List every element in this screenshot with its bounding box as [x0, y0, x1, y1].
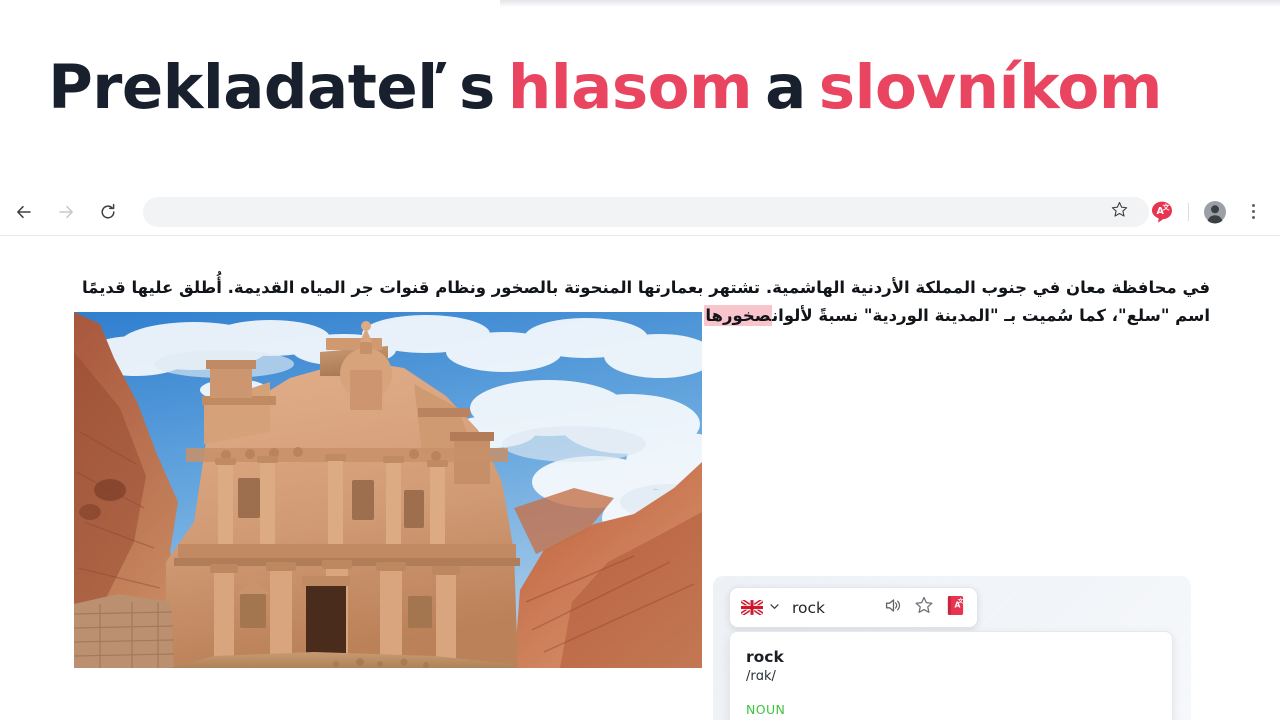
hero-word-s: s — [459, 52, 495, 123]
page-title: Prekladateľshlasomaslovníkom — [48, 56, 1162, 120]
hero-word-hlasom: hlasom — [508, 52, 752, 123]
page-hero: Prekladateľshlasomaslovníkom — [0, 56, 1210, 120]
part-of-speech-label: NOUN — [746, 702, 1156, 718]
toolbar-actions: A 文 — [1149, 188, 1280, 236]
hero-word-slovnikom: slovníkom — [819, 52, 1162, 123]
svg-text:文: 文 — [957, 597, 963, 605]
bookmark-button[interactable] — [1105, 198, 1133, 226]
star-icon — [914, 595, 934, 620]
petra-monastery-photo — [74, 312, 702, 668]
back-button[interactable] — [6, 194, 42, 230]
translator-extension-icon: A 文 — [1150, 200, 1174, 224]
favorite-button[interactable] — [913, 597, 935, 619]
translator-extension-button[interactable]: A 文 — [1146, 196, 1178, 228]
page-content: في محافظة معان في جنوب المملكة الأردنية … — [0, 236, 1280, 720]
chevron-down-icon[interactable] — [769, 599, 780, 617]
speaker-icon — [884, 596, 903, 620]
top-edge-strip — [500, 0, 1280, 7]
hero-word-a: a — [765, 52, 806, 123]
address-bar[interactable] — [143, 197, 1149, 227]
hero-word-prekladatel: Prekladateľ — [48, 52, 446, 123]
reload-icon — [98, 202, 118, 222]
toolbar-divider — [1188, 203, 1189, 221]
profile-avatar-icon — [1203, 200, 1227, 224]
definition-card: rock /rɑk/ NOUN 1.a lump or mass of hard… — [729, 631, 1173, 720]
star-icon — [1110, 200, 1129, 224]
definition-phonetic: /rɑk/ — [746, 669, 1156, 686]
reload-button[interactable] — [90, 194, 126, 230]
browser-toolbar: A 文 — [0, 188, 1280, 236]
three-dot-menu-icon — [1252, 202, 1255, 222]
screen-root: Prekladateľshlasomaslovníkom — [0, 0, 1280, 720]
highlighted-word[interactable]: صخورها — [704, 305, 772, 326]
forward-button[interactable] — [48, 194, 84, 230]
dictionary-button[interactable]: A 文 — [944, 597, 966, 619]
translator-query-text[interactable]: rock — [792, 599, 873, 617]
photo-illustration — [74, 312, 702, 668]
back-arrow-icon — [14, 202, 34, 222]
pronounce-button[interactable] — [882, 597, 904, 619]
dictionary-book-icon: A 文 — [946, 595, 965, 621]
translator-search-bar[interactable]: rock — [729, 587, 978, 628]
browser-menu-button[interactable] — [1237, 196, 1269, 228]
arabic-paragraph-line2: "سلع"، كما سُميت بـ "المدينة الوردية" نس… — [772, 306, 1169, 325]
svg-text:文: 文 — [1163, 202, 1171, 211]
definition-headword: rock — [746, 648, 1156, 667]
profile-button[interactable] — [1199, 196, 1231, 228]
uk-flag-icon[interactable] — [741, 600, 763, 615]
forward-arrow-icon — [56, 202, 76, 222]
